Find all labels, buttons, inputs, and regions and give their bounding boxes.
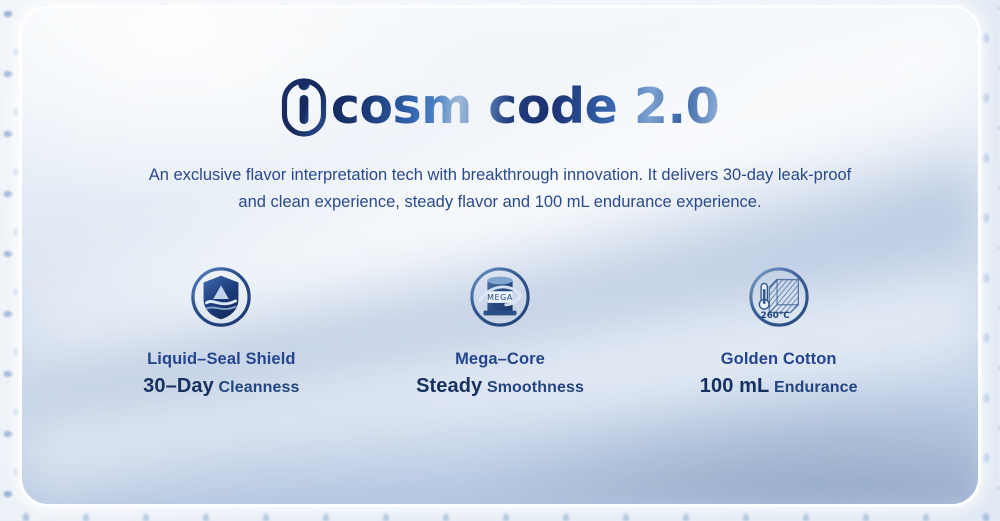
brand-logo-text: cosm code 2.0 bbox=[331, 82, 719, 131]
feature-tail: Endurance bbox=[774, 379, 858, 396]
feature-title: Mega–Core bbox=[361, 350, 640, 369]
shield-droplet-icon bbox=[190, 266, 252, 328]
feature-title: Liquid–Seal Shield bbox=[82, 350, 361, 369]
icosm-i-mark-icon bbox=[281, 75, 327, 137]
temperature-label: 260°C bbox=[760, 311, 789, 321]
description-line-1: An exclusive flavor interpretation tech … bbox=[22, 162, 978, 189]
brand-logo: cosm code 2.0 bbox=[22, 71, 978, 141]
thermometer-cotton-icon: 260°C bbox=[748, 266, 810, 328]
mega-core-coil-icon: MEGA bbox=[469, 266, 531, 328]
mega-core-label: MEGA bbox=[487, 293, 513, 302]
content-card: cosm code 2.0 An exclusive flavor interp… bbox=[22, 8, 978, 504]
feature-tail: Cleanness bbox=[219, 379, 300, 396]
promo-banner: cosm code 2.0 An exclusive flavor interp… bbox=[0, 0, 1000, 521]
description-line-2: and clean experience, steady flavor and … bbox=[22, 189, 978, 216]
card-content: cosm code 2.0 An exclusive flavor interp… bbox=[22, 8, 978, 504]
feature-subtitle: 100 mL Endurance bbox=[639, 375, 918, 398]
feature-tail: Smoothness bbox=[487, 379, 584, 396]
description-paragraph: An exclusive flavor interpretation tech … bbox=[22, 162, 978, 215]
feature-lead: Steady bbox=[416, 375, 482, 397]
feature-subtitle: Steady Smoothness bbox=[361, 375, 640, 398]
feature-list: Liquid–Seal Shield 30–Day Cleanness bbox=[82, 266, 918, 398]
feature-subtitle: 30–Day Cleanness bbox=[82, 375, 361, 398]
feature-item-mega-core: MEGA Mega–Core Steady Smoothness bbox=[361, 266, 640, 398]
feature-item-golden-cotton: 260°C Golden Cotton 100 mL Endurance bbox=[639, 266, 918, 398]
feature-lead: 100 mL bbox=[700, 375, 770, 397]
feature-title: Golden Cotton bbox=[639, 350, 918, 369]
feature-item-liquid-seal-shield: Liquid–Seal Shield 30–Day Cleanness bbox=[82, 266, 361, 398]
feature-lead: 30–Day bbox=[143, 375, 214, 397]
